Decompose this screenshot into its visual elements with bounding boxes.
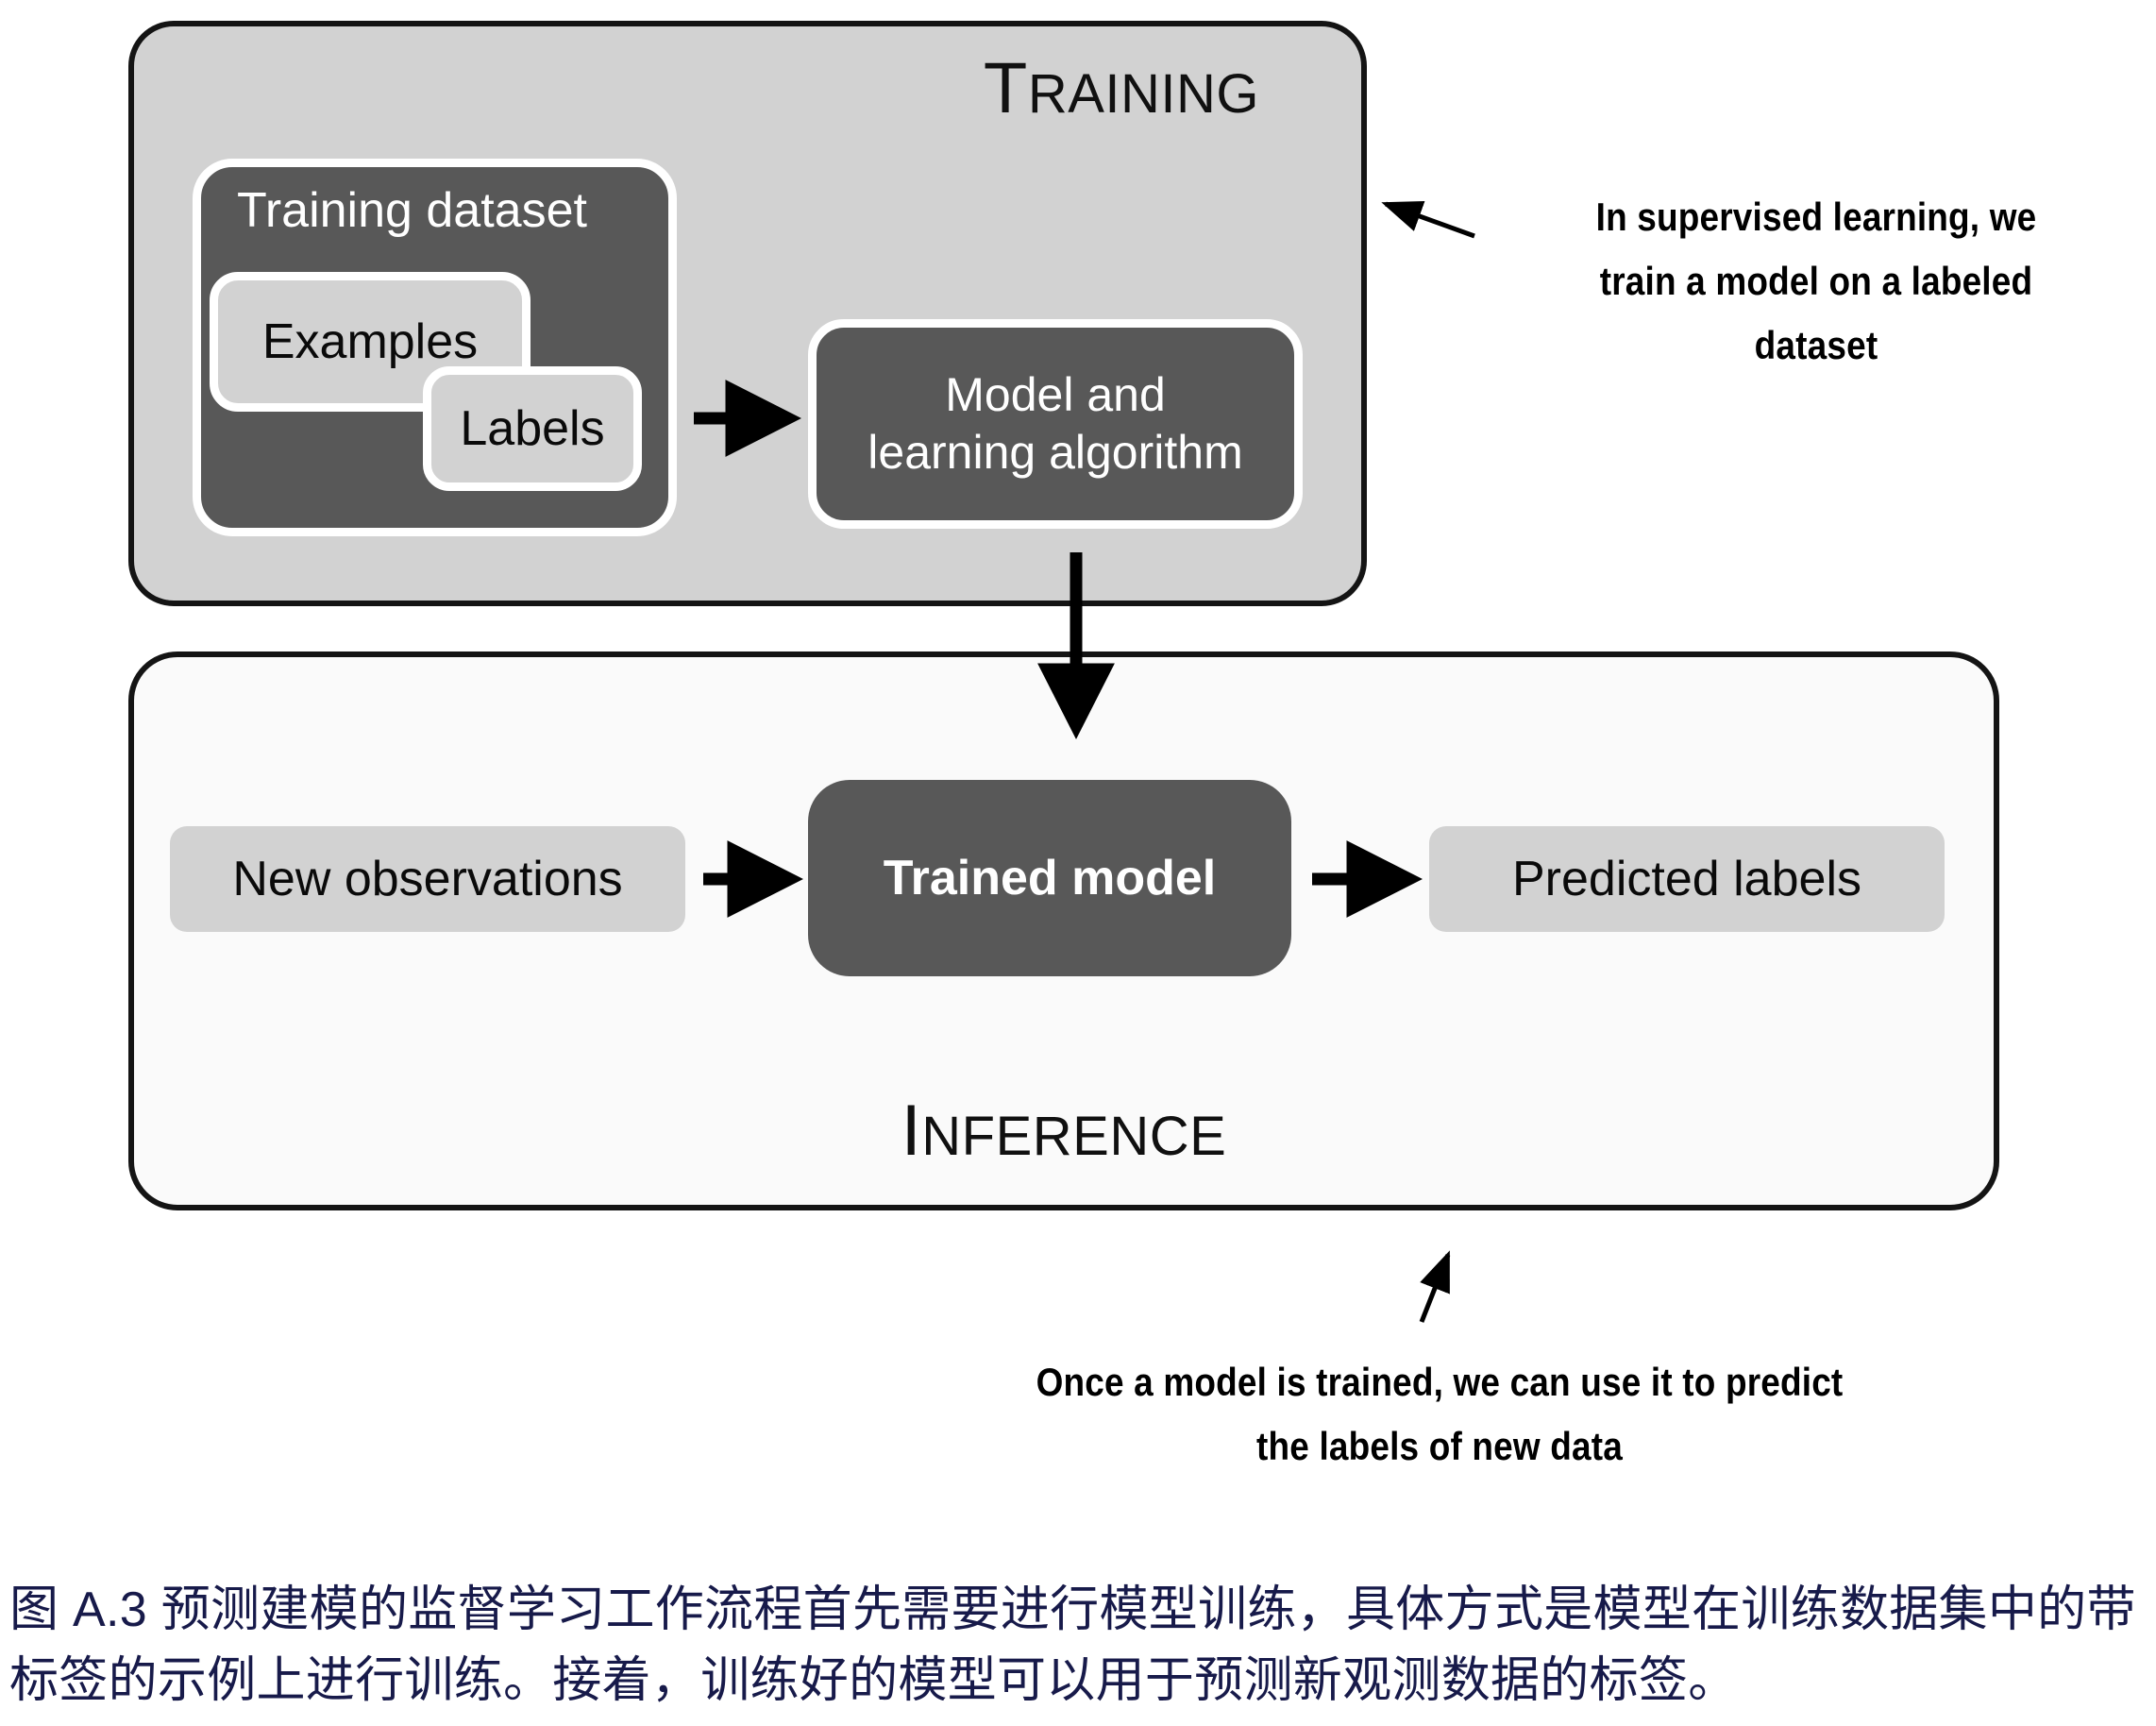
- annotation-pointer-inference: [1422, 1255, 1448, 1322]
- predicted-labels-box: Predicted labels: [1429, 826, 1945, 932]
- annotation-training-note: In supervised learning, we train a model…: [1542, 185, 2091, 378]
- training-title-rest: RAINING: [1028, 63, 1259, 125]
- examples-label: Examples: [262, 317, 478, 366]
- figure-canvas: TRAINING Training dataset Examples Label…: [0, 0, 2156, 1726]
- trained-model-label: Trained model: [884, 854, 1217, 903]
- inference-title: INFERENCE: [134, 1095, 1994, 1167]
- new-observations-label: New observations: [232, 855, 622, 904]
- training-title-lead: T: [984, 48, 1028, 128]
- training-title: TRAINING: [984, 53, 1259, 125]
- inference-title-lead: I: [901, 1091, 922, 1171]
- annotation-pointer-training: [1386, 204, 1474, 236]
- training-dataset-label: Training dataset: [237, 184, 587, 238]
- model-and-learning-algorithm-box: Model and learning algorithm: [808, 319, 1303, 529]
- predicted-labels-label: Predicted labels: [1512, 855, 1861, 904]
- trained-model-box: Trained model: [808, 780, 1291, 976]
- inference-title-rest: NFERENCE: [921, 1106, 1226, 1167]
- model-and-learning-algorithm-label: Model and learning algorithm: [867, 366, 1242, 482]
- new-observations-box: New observations: [170, 826, 685, 932]
- labels-label: Labels: [460, 404, 604, 453]
- annotation-inference-note: Once a model is trained, we can use it t…: [945, 1350, 1933, 1479]
- figure-caption: 图 A.3 预测建模的监督学习工作流程首先需要进行模型训练，具体方式是模型在训练…: [9, 1575, 2150, 1717]
- labels-box: Labels: [423, 366, 642, 491]
